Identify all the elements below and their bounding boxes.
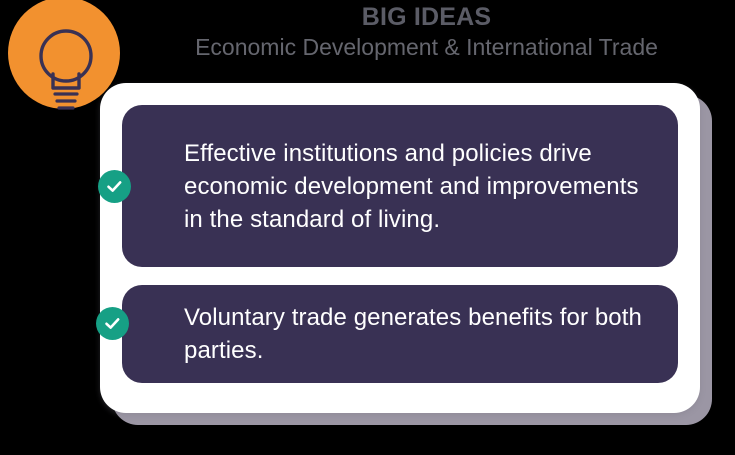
check-badge (96, 307, 129, 340)
check-icon (103, 314, 122, 333)
check-icon (105, 177, 124, 196)
idea-card-text: Voluntary trade generates benefits for b… (184, 301, 650, 367)
lightbulb-icon (30, 22, 102, 110)
idea-card: Effective institutions and policies driv… (122, 105, 678, 267)
idea-card: Voluntary trade generates benefits for b… (122, 285, 678, 383)
header: BIG IDEAS Economic Development & Interna… (118, 2, 735, 74)
lightbulb-badge (8, 0, 120, 106)
idea-card-text: Effective institutions and policies driv… (184, 137, 650, 236)
big-ideas-graphic: BIG IDEAS Economic Development & Interna… (0, 0, 735, 455)
page-title: BIG IDEAS (118, 2, 735, 32)
check-badge (98, 170, 131, 203)
page-subtitle: Economic Development & International Tra… (118, 32, 735, 62)
